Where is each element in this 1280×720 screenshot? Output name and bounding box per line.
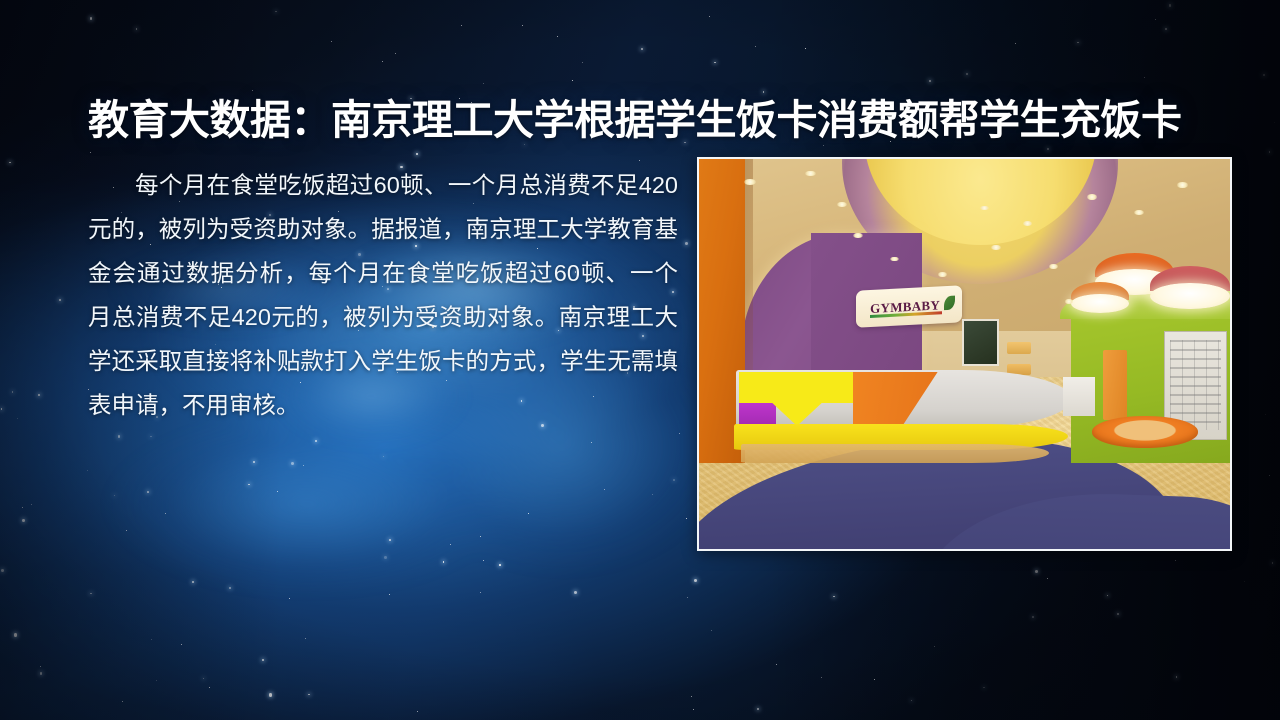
ceiling-spot-light bbox=[1134, 210, 1144, 215]
photo-desk-base bbox=[741, 444, 1049, 464]
photo-white-cabinet bbox=[1063, 377, 1095, 416]
ceiling-spot-light bbox=[805, 171, 816, 176]
gymbaby-sign: GYMBABY bbox=[856, 285, 962, 328]
ceiling-spot-light bbox=[980, 206, 988, 210]
photo-pendant-light-pink bbox=[1150, 266, 1230, 309]
gym-interior-photo: GYMBABY bbox=[697, 157, 1232, 551]
photo-wall-screen bbox=[962, 319, 999, 366]
pendant-lens bbox=[1071, 294, 1129, 313]
photo-pendant-light-small bbox=[1071, 282, 1129, 313]
slide-body-text: 每个月在食堂吃饭超过60顿、一个月总消费不足420元的，被列为受资助对象。据报道… bbox=[88, 163, 678, 427]
pendant-lens bbox=[1150, 283, 1230, 310]
slide-title: 教育大数据：南京理工大学根据学生饭卡消费额帮学生充饭卡 bbox=[88, 95, 1258, 145]
photo-content: GYMBABY bbox=[699, 159, 1230, 549]
ceiling-spot-light bbox=[837, 202, 847, 207]
photo-wall-sconce-upper bbox=[1007, 342, 1031, 354]
ceiling-spot-light bbox=[938, 272, 947, 277]
ceiling-spot-light bbox=[1177, 182, 1188, 187]
photo-orange-ring-seat bbox=[1092, 416, 1198, 447]
ceiling-spot-light bbox=[853, 233, 863, 238]
ceiling-spot-light bbox=[991, 245, 1001, 250]
photo-desk-yellow-triangle bbox=[739, 372, 855, 426]
ceiling-spot-light bbox=[1065, 299, 1073, 303]
presentation-slide: 教育大数据：南京理工大学根据学生饭卡消费额帮学生充饭卡 每个月在食堂吃饭超过60… bbox=[0, 0, 1280, 720]
ceiling-spot-light bbox=[1087, 194, 1098, 199]
ceiling-spot-light bbox=[744, 179, 756, 185]
photo-orange-door-panel bbox=[1103, 350, 1127, 420]
